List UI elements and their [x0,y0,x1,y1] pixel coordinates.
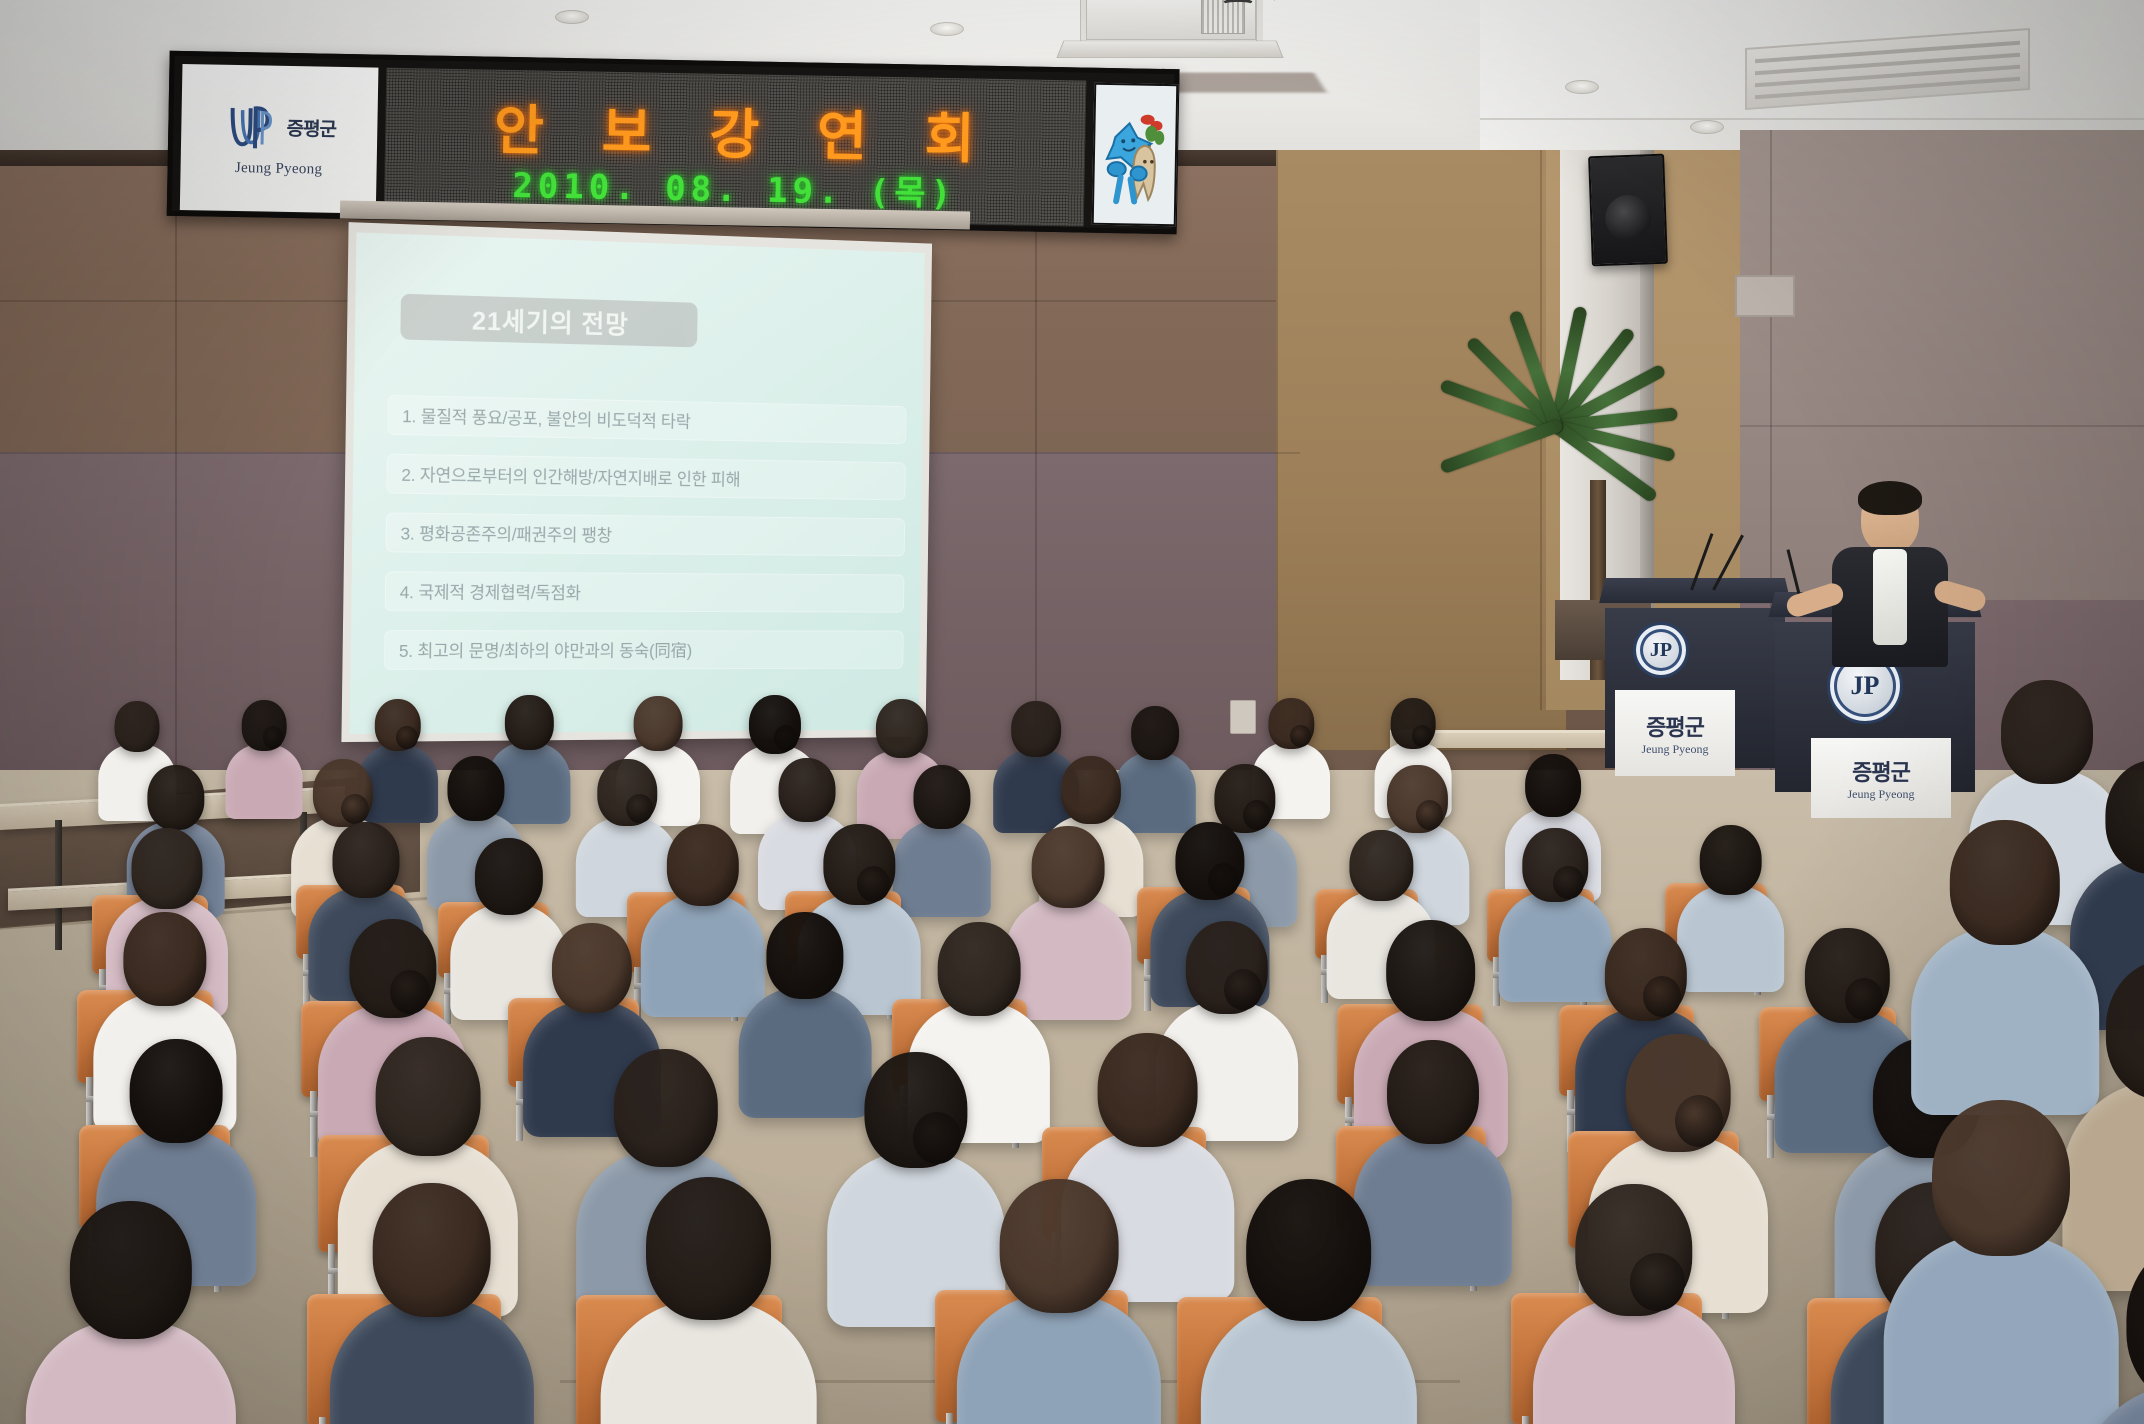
audience-head [766,912,843,999]
audience-hair-bun [1845,978,1884,1020]
audience-hair-bun [1224,969,1262,1010]
audience-head [2106,960,2144,1100]
audience-member [589,1177,828,1424]
audience-head [1061,756,1121,824]
audience-head [115,701,160,752]
led-char: 안 [493,86,546,166]
audience-head [614,1049,718,1167]
audience-hair-bun [1208,863,1240,897]
audience-member [1522,1184,1745,1424]
presenter [1830,485,1950,665]
audience-head [1011,701,1061,757]
wall-panel-seam [1035,166,1037,766]
audience-torso [1533,1298,1735,1424]
audience-head [938,922,1021,1016]
audience-member [15,1201,247,1424]
audience-head [914,765,971,830]
audience-head [70,1201,192,1339]
presenter-shirt [1873,549,1907,645]
audience-hair-bun [1416,800,1444,830]
audience-hair-bun [263,726,284,748]
wall-panel-seam [175,166,177,766]
wall-speaker [1588,154,1668,267]
audience-head [1386,920,1476,1021]
ceiling-seam [1480,118,2144,120]
lectern-sign-en: Jeung Pyeong [1642,742,1709,757]
audience-hair-bun [341,794,369,824]
audience-torso [2075,1383,2144,1424]
jp-emblem-icon: JP [1633,622,1689,678]
audience-hair-bun [390,970,430,1013]
jp-logo-icon: 증평군 [222,99,336,159]
audience-head [1387,1040,1479,1144]
audience-head [1950,820,2060,945]
led-char: 연 [816,92,869,172]
audience-hair-bun [1630,1253,1684,1311]
audience-head [1000,1179,1119,1313]
audience-head [1932,1100,2070,1256]
slide-bullet: 4. 국제적 경제협력/독점화 [385,571,905,612]
slide-bullet: 3. 평화공존주의/패권주의 팽창 [386,512,906,556]
audience-head [372,1183,491,1317]
led-char: 보 [601,88,654,168]
audience-head [1525,754,1581,817]
lecture-hall-photo: 증평군 Jeung Pyeong 안 보 강 연 회 2010. 08. 19.… [0,0,2144,1424]
ceiling-downlight [1565,80,1599,94]
audience-head [779,758,836,822]
audience-head [1246,1179,1372,1321]
county-logo-plate: 증평군 Jeung Pyeong [180,64,379,214]
led-char: 강 [709,90,762,170]
audience-hair-bun [1675,1095,1723,1147]
ceiling-downlight [1690,120,1724,134]
audience-hair-bun [1290,725,1311,748]
audience-head [666,824,738,906]
audience-hair-bun [857,866,890,901]
audience-head [2106,760,2144,874]
audience-member [319,1183,545,1424]
wall-corner-line [1276,150,1278,770]
lectern-sign: 증평군 Jeung Pyeong [1615,690,1735,776]
lectern-sign: 증평군 Jeung Pyeong [1811,738,1951,818]
ceiling-downlight [555,10,589,24]
audience-head [1097,1033,1198,1147]
audience-torso [330,1298,534,1424]
audience-member [1189,1179,1428,1424]
audience-head [123,912,206,1006]
led-char: 회 [924,94,977,174]
audience-head [1032,826,1105,908]
presenter-hair [1858,481,1922,515]
audience-head [475,838,543,915]
audience-hair-bun [396,726,417,749]
slide-title: 21세기의 전망 [400,294,697,348]
audience-hair-bun [913,1112,960,1163]
audience-hair-bun [1553,866,1583,899]
audience-head [646,1177,772,1319]
audience-torso [957,1294,1161,1424]
ceiling-projector [1060,0,1280,70]
lectern-secondary: JP 증평군 Jeung Pyeong [1605,578,1785,768]
audience-head [448,756,505,821]
slide-bullet-list: 1. 물질적 풍요/공포, 불안의 비도덕적 타락 2. 자연으로부터의 인간해… [384,395,907,689]
audience-head [131,828,202,908]
lectern-sign-en: Jeung Pyeong [1848,787,1915,802]
audience-hair-bun [626,794,653,824]
audience-head [2126,1240,2144,1406]
audience-head [876,699,928,758]
audience-hair-bun [774,725,798,751]
wall-mounted-panel [1735,275,1795,317]
slide-bullet: 1. 물질적 풍요/공포, 불안의 비도덕적 타락 [387,395,906,444]
audience-head [552,923,632,1014]
audience-head [634,696,683,751]
audience-head [130,1039,223,1144]
projection-screen: 21세기의 전망 1. 물질적 풍요/공포, 불안의 비도덕적 타락 2. 자연… [341,222,932,742]
county-name-ko: 증평군 [286,120,336,140]
audience-head [333,822,400,898]
audience-head [1699,825,1762,896]
mascot-graphic-panel [1092,83,1179,227]
audience-hair-bun [1412,725,1433,747]
audience-head [147,765,204,830]
slide-bullet: 5. 최고의 문명/최하의 야만과의 동숙(同宿) [384,630,904,670]
audience-head [376,1037,481,1156]
lectern-sign-ko: 증평군 [1852,755,1910,787]
lectern-sign-ko: 증평군 [1646,710,1704,742]
wall-panel-seam [1740,425,2144,427]
county-name-en: Jeung Pyeong [235,159,323,178]
ceiling-downlight [930,22,964,36]
audience-head [1350,830,1413,902]
slide-bullet: 2. 자연으로부터의 인간해방/자연지배로 인한 피해 [386,454,906,501]
audience-head [1131,706,1179,760]
audience-head [505,695,553,750]
audience-member [2060,1240,2144,1424]
audience-hair-bun [1643,976,1681,1017]
audience-member [946,1179,1172,1424]
